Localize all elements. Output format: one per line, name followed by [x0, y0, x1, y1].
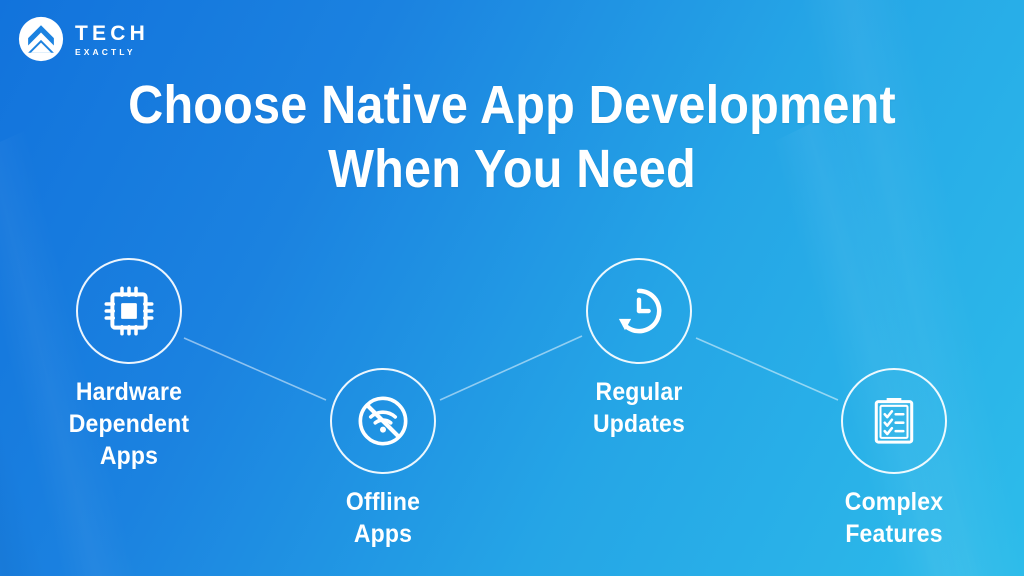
node-label-line: Apps — [291, 518, 475, 550]
node-label-line: Complex — [802, 486, 986, 518]
microchip-icon — [101, 283, 157, 339]
node-complex-features[interactable]: Complex Features — [794, 368, 994, 550]
brand-logo: TECH EXACTLY — [18, 16, 149, 62]
clock-restore-icon — [611, 283, 667, 339]
clipboard-checklist-icon — [867, 394, 921, 448]
node-label-line: Dependent — [37, 408, 221, 440]
wifi-off-icon — [354, 392, 412, 450]
node-regular-updates[interactable]: Regular Updates — [539, 258, 739, 440]
node-label: Complex Features — [802, 486, 986, 550]
node-hardware-dependent-apps[interactable]: Hardware Dependent Apps — [29, 258, 229, 472]
node-offline-apps[interactable]: Offline Apps — [283, 368, 483, 550]
page-title-line-2: When You Need — [51, 138, 973, 202]
node-label-line: Regular — [547, 376, 731, 408]
node-label-line: Updates — [547, 408, 731, 440]
node-label-line: Features — [802, 518, 986, 550]
node-icon-ring — [76, 258, 182, 364]
node-label-line: Offline — [291, 486, 475, 518]
brand-name-bottom: EXACTLY — [75, 48, 149, 57]
page-title-line-1: Choose Native App Development — [51, 74, 973, 138]
node-label: Hardware Dependent Apps — [37, 376, 221, 472]
infographic-slide: TECH EXACTLY Choose Native App Developme… — [0, 0, 1024, 576]
tech-exactly-chevron-logo-icon — [18, 16, 64, 62]
page-title: Choose Native App Development When You N… — [51, 74, 973, 201]
node-icon-ring — [841, 368, 947, 474]
node-label-line: Hardware — [37, 376, 221, 408]
brand-name-top: TECH — [75, 23, 149, 44]
node-label: Offline Apps — [291, 486, 475, 550]
node-label-line: Apps — [37, 440, 221, 472]
node-label: Regular Updates — [547, 376, 731, 440]
brand-wordmark: TECH EXACTLY — [75, 21, 149, 57]
node-icon-ring — [586, 258, 692, 364]
node-icon-ring — [330, 368, 436, 474]
